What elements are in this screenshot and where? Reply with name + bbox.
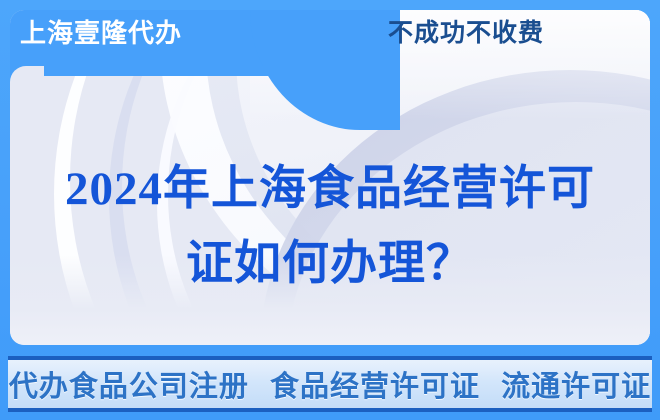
page-title-line-2: 证如何办理？ [0, 227, 660, 302]
brand-title: 上海壹隆代办 [20, 20, 182, 46]
poster-canvas: 上海壹隆代办 不成功不收费 2024年上海食品经营许可 证如何办理？ 代办食品公… [0, 0, 660, 420]
keyword-bar: 代办食品公司注册 食品经营许可证 流通许可证 [8, 356, 652, 412]
keyword-bar-text: 代办食品公司注册 食品经营许可证 流通许可证 [9, 363, 651, 405]
page-title: 2024年上海食品经营许可 证如何办理？ [0, 152, 660, 302]
page-title-line-1: 2024年上海食品经营许可 [0, 152, 660, 227]
tagline-text: 不成功不收费 [388, 21, 544, 46]
keyword-item-3: 流通许可证 [501, 371, 651, 403]
keyword-item-1: 代办食品公司注册 [9, 371, 249, 403]
panel-inner-corner [10, 66, 44, 100]
keyword-item-2: 食品经营许可证 [270, 371, 480, 403]
